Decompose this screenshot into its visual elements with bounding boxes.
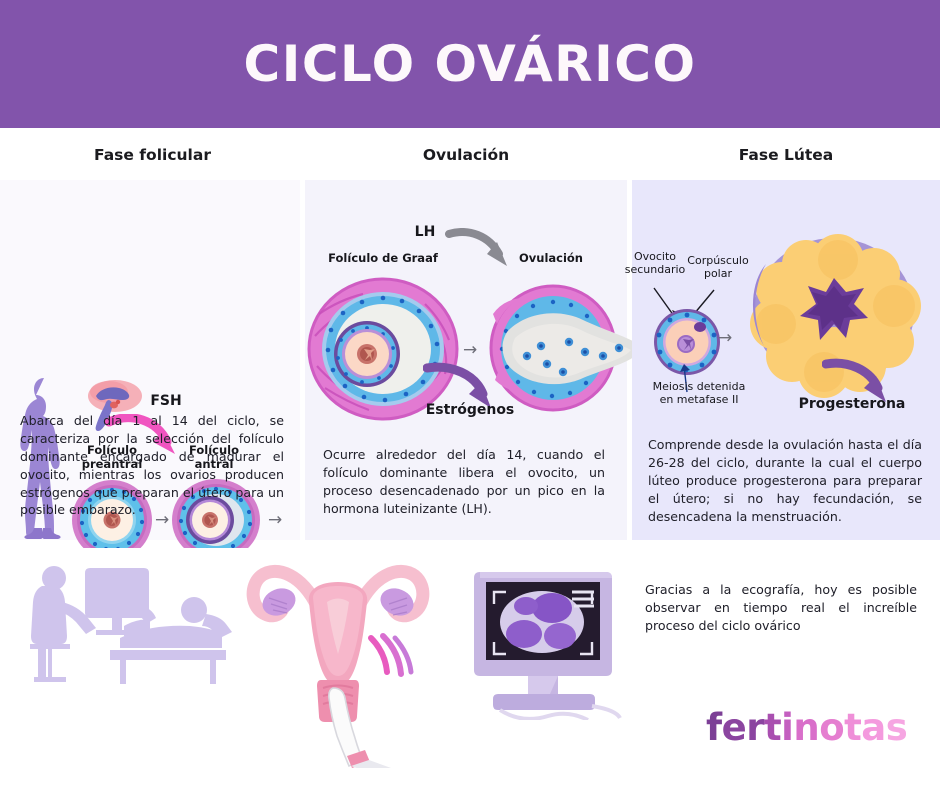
logo-letter: s <box>886 706 908 749</box>
phase-heading-follicular: Fase folicular <box>0 146 305 164</box>
phase-headings: Fase folicular Ovulación Fase Lútea <box>0 146 940 182</box>
footer-note: Gracias a la ecografía, hoy es posible o… <box>645 581 917 635</box>
lh-label: LH <box>405 224 445 241</box>
infographic-root: CICLO OVÁRICO Fase folicular Ovulación F… <box>0 0 940 788</box>
ultrasound-monitor-icon <box>464 560 644 720</box>
panel-luteal: Ovocito secundario Corpúsculo polar <box>632 180 940 540</box>
uterus-probe-diagram <box>243 550 433 768</box>
panel-ovulation-body: Ocurre alrededor del día 14, cuando el f… <box>305 446 627 518</box>
panel-follicular-body: Abarca del día 1 al 14 del ciclo, se car… <box>0 412 300 519</box>
header-bar: CICLO OVÁRICO <box>0 0 940 128</box>
ovulation-rupture-diagram <box>485 276 645 426</box>
panel-ovulation: LH Folículo de Graaf <box>305 180 627 540</box>
phase-heading-luteal: Fase Lútea <box>632 146 940 164</box>
fertinotas-logo: fertinotas <box>706 706 896 752</box>
arrow-oocyte-to-corpus-luteum: → <box>718 328 732 348</box>
page-title: CICLO OVÁRICO <box>244 35 697 93</box>
logo-letter: t <box>764 706 781 749</box>
ultrasound-exam-silhouette-icon <box>24 556 234 686</box>
panel-follicular: FSH Folículo preantral <box>0 180 300 540</box>
logo-letter: i <box>781 706 793 749</box>
ovulation-diagram-label: Ovulación <box>501 252 601 266</box>
logo-letter: e <box>722 706 747 749</box>
lh-arrow-icon <box>445 228 515 274</box>
bottom-section: Gracias a la ecografía, hoy es posible o… <box>0 548 940 788</box>
logo-letter: r <box>746 706 764 749</box>
phase-heading-ovulation: Ovulación <box>305 146 627 164</box>
logo-letter: n <box>793 706 819 749</box>
logo-letter: o <box>819 706 844 749</box>
progesterone-label: Progesterona <box>782 396 922 413</box>
arrow-graaf-to-ovulation: → <box>463 340 477 360</box>
panel-luteal-body: Comprende desde la ovulación hasta el dí… <box>632 436 940 525</box>
logo-letter: f <box>706 706 722 749</box>
graaf-follicle-label: Folículo de Graaf <box>317 252 449 266</box>
logo-letter: t <box>844 706 861 749</box>
logo-letter: a <box>861 706 885 749</box>
fsh-label: FSH <box>140 393 192 410</box>
